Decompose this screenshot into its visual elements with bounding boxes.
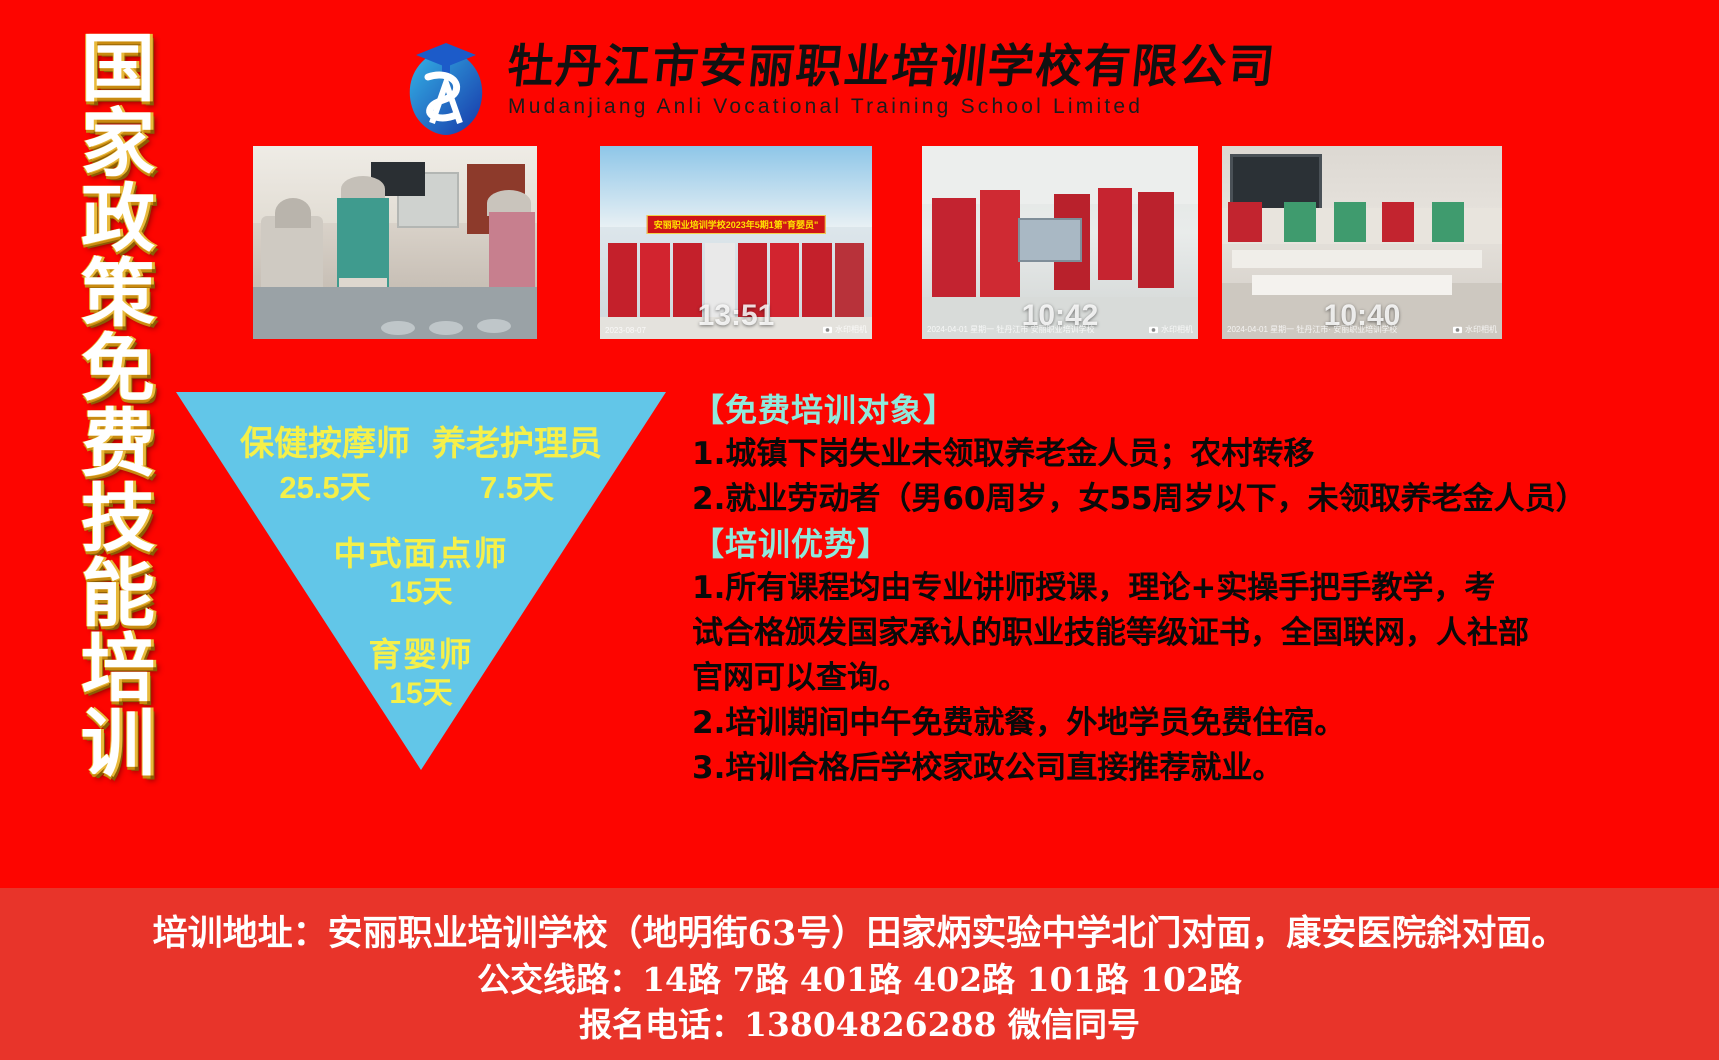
header: 牡丹江市安丽职业培训学校有限公司 Mudanjiang Anli Vocatio… (398, 18, 1298, 142)
heading-training-advantages: 【培训优势】 (692, 522, 1702, 566)
vertical-title-char: 策 (81, 257, 155, 331)
heading-free-training-target: 【免费培训对象】 (692, 388, 1702, 432)
course-item-childcare: 育婴师 15天 (176, 635, 666, 713)
photo-classroom-lecture: 10:40 2024-04-01 星期一 牡丹江市· 安丽职业培训学校 水印相机 (1222, 146, 1502, 339)
graduation-cap-logo-icon (398, 25, 494, 135)
advantage-line: 2.培训期间中午免费就餐，外地学员免费住宿。 (692, 701, 1702, 746)
school-english-name: Mudanjiang Anli Vocational Training Scho… (508, 94, 1276, 120)
course-row-1: 保健按摩师 25.5天 养老护理员 7.5天 (176, 424, 666, 508)
footer-bus-routes: 公交线路：14路 7路 401路 402路 101路 102路 (477, 957, 1242, 1002)
course-days: 7.5天 (480, 468, 554, 508)
vertical-title-char: 技 (81, 482, 155, 556)
course-name: 养老护理员 (432, 424, 602, 464)
course-days: 25.5天 (279, 468, 370, 508)
course-item-pastry: 中式面点师 15天 (176, 534, 666, 612)
courses-text-layer: 保健按摩师 25.5天 养老护理员 7.5天 中式面点师 15天 育婴师 15天 (176, 392, 666, 770)
photo-banner: 安丽职业培训学校2023年5期1第"育婴员" (647, 215, 826, 234)
info-block: 【免费培训对象】 1.城镇下岗失业未领取养老金人员；农村转移 2.就业劳动者（男… (692, 388, 1702, 791)
vertical-title-char: 家 (81, 107, 155, 181)
course-item-eldercare: 养老护理员 7.5天 (432, 424, 602, 508)
vertical-title-char: 政 (81, 182, 155, 256)
course-days: 15天 (176, 675, 666, 713)
vertical-title-char: 免 (81, 332, 155, 406)
course-name: 育婴师 (176, 635, 666, 675)
advantage-line: 1.所有课程均由专业讲师授课，理论+实操手把手教学，考 (692, 566, 1702, 611)
photo-date: 2024-04-01 星期一 牡丹江市· 安丽职业培训学校 (1227, 324, 1397, 335)
courses-triangle: 保健按摩师 25.5天 养老护理员 7.5天 中式面点师 15天 育婴师 15天 (176, 392, 666, 770)
photo-watermark: 水印相机 (1453, 324, 1497, 335)
vertical-title-char: 费 (81, 407, 155, 481)
course-days: 15天 (176, 574, 666, 612)
photo-date: 2023-08-07 (605, 326, 646, 335)
course-item-massage: 保健按摩师 25.5天 (240, 424, 410, 508)
advantage-line: 官网可以查询。 (692, 656, 1702, 701)
photo-date: 2024-04-01 星期一 牡丹江市 安丽职业培训学校 (927, 324, 1095, 335)
camera-icon (823, 325, 832, 334)
school-chinese-name: 牡丹江市安丽职业培训学校有限公司 (505, 40, 1278, 92)
photo-watermark: 水印相机 (1149, 324, 1193, 335)
photo-pastry-class (253, 146, 537, 339)
footer-address: 培训地址：安丽职业培训学校（地明街63号）田家炳实验中学北门对面，康安医院斜对面… (153, 910, 1567, 957)
vertical-title-char: 训 (81, 707, 155, 781)
camera-icon (1149, 325, 1158, 334)
advantage-line: 3.培训合格后学校家政公司直接推荐就业。 (692, 746, 1702, 791)
photo-group-2023: 安丽职业培训学校2023年5期1第"育婴员" 13:51 2023-08-07 … (600, 146, 872, 339)
vertical-title-char: 国 (81, 32, 155, 106)
poster-root: 国 家 政 策 免 费 技 能 培 训 (0, 0, 1719, 1060)
vertical-title-char: 能 (81, 557, 155, 631)
vertical-title-char: 培 (81, 632, 155, 706)
camera-icon (1453, 325, 1462, 334)
target-line: 1.城镇下岗失业未领取养老金人员；农村转移 (692, 432, 1702, 477)
photo-watermark: 水印相机 (823, 324, 867, 335)
advantage-line: 试合格颁发国家承认的职业技能等级证书，全国联网，人社部 (692, 611, 1702, 656)
photo-timestamp: 13:51 (698, 299, 775, 333)
course-name: 保健按摩师 (240, 424, 410, 464)
footer-phone: 报名电话：13804826288 微信同号 (579, 1002, 1140, 1047)
target-line: 2.就业劳动者（男60周岁，女55周岁以下，未领取养老金人员） (692, 477, 1702, 522)
footer-contact: 培训地址：安丽职业培训学校（地明街63号）田家炳实验中学北门对面，康安医院斜对面… (0, 888, 1719, 1060)
vertical-title: 国 家 政 策 免 费 技 能 培 训 (62, 32, 174, 772)
photo-nursing-practice: 10:42 2024-04-01 星期一 牡丹江市 安丽职业培训学校 水印相机 (922, 146, 1198, 339)
course-name: 中式面点师 (176, 534, 666, 574)
